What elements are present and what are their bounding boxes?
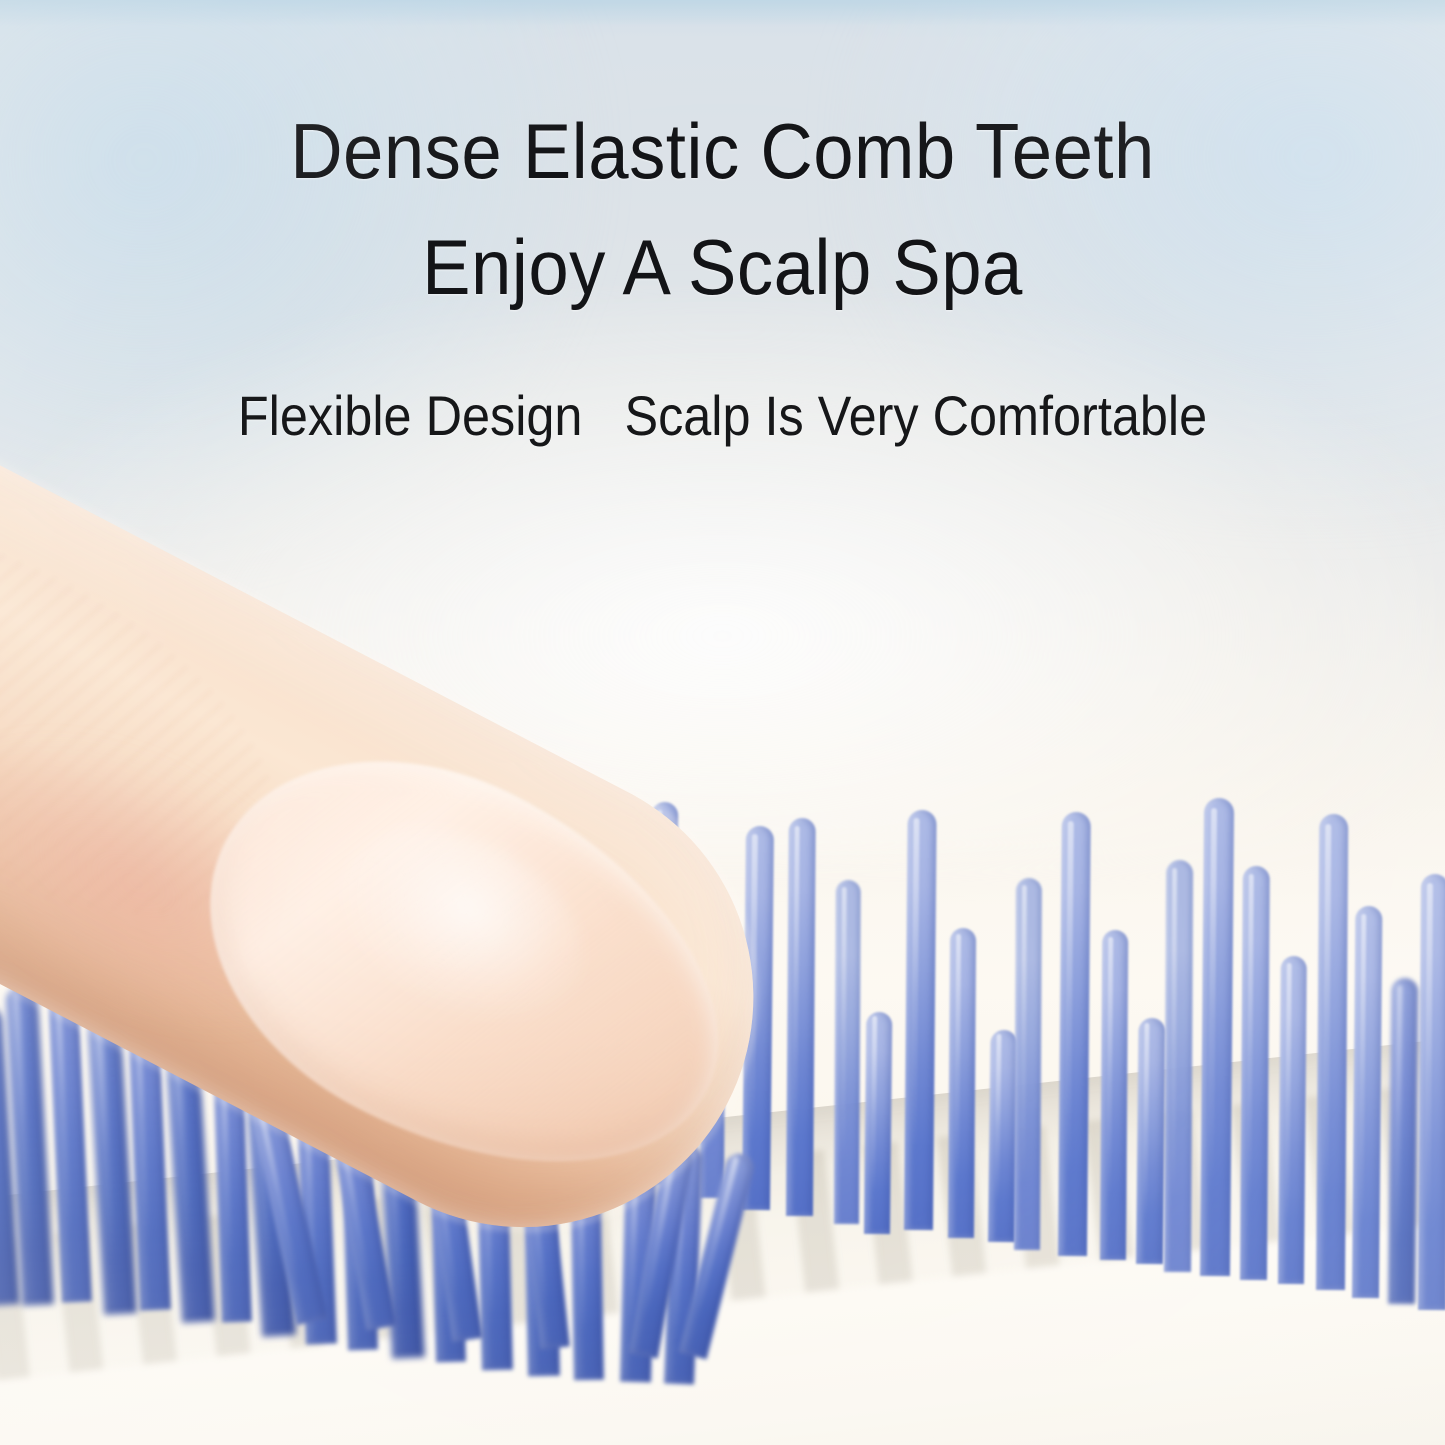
bristle-sheen [954,934,961,1182]
bristle-sheen [1207,807,1216,1189]
comb-bristle [1418,874,1445,1310]
bristle-sheen [1142,1023,1149,1220]
bristle-sheen [1246,874,1254,1205]
comb-bristle [1014,878,1042,1250]
bristle-sheen [792,826,800,1144]
bristle-sheen [1065,821,1074,1176]
promo-banner: Dense Elastic Comb Teeth Enjoy A Scalp S… [0,0,1445,1445]
comb-bristle [1164,860,1193,1272]
bristle-sheen [994,1034,1001,1204]
comb-bristle [948,928,976,1238]
bristle-sheen [1020,885,1027,1183]
comb-bristle [1388,978,1418,1304]
comb-bristle [1352,906,1382,1298]
bristle-sheen [1425,883,1433,1232]
comb-bristle [904,810,937,1230]
bristle-sheen [1106,937,1113,1201]
comb-bristle [1240,866,1270,1280]
comb-bristle [834,880,861,1224]
bristle-sheen [870,1016,877,1194]
bristle-sheen [911,818,920,1154]
comb-bristle [1136,1018,1166,1264]
bristle-sheen [1170,868,1177,1198]
bristle-sheen [1395,984,1403,1245]
comb-bristle [1278,956,1307,1284]
comb-bristle [1316,814,1348,1290]
comb-bristle [1058,812,1091,1256]
comb-bristle [864,1012,892,1234]
comb-bristle [1200,798,1234,1276]
bristle-sheen [1284,962,1291,1224]
comb-bristle [988,1030,1018,1242]
bristle-sheen [95,1019,115,1261]
comb-bristle [1100,930,1128,1260]
bristle-sheen [1323,823,1331,1204]
bristle-sheen [13,992,33,1248]
bristle-sheen [1359,914,1367,1228]
bristle-sheen [840,887,846,1162]
